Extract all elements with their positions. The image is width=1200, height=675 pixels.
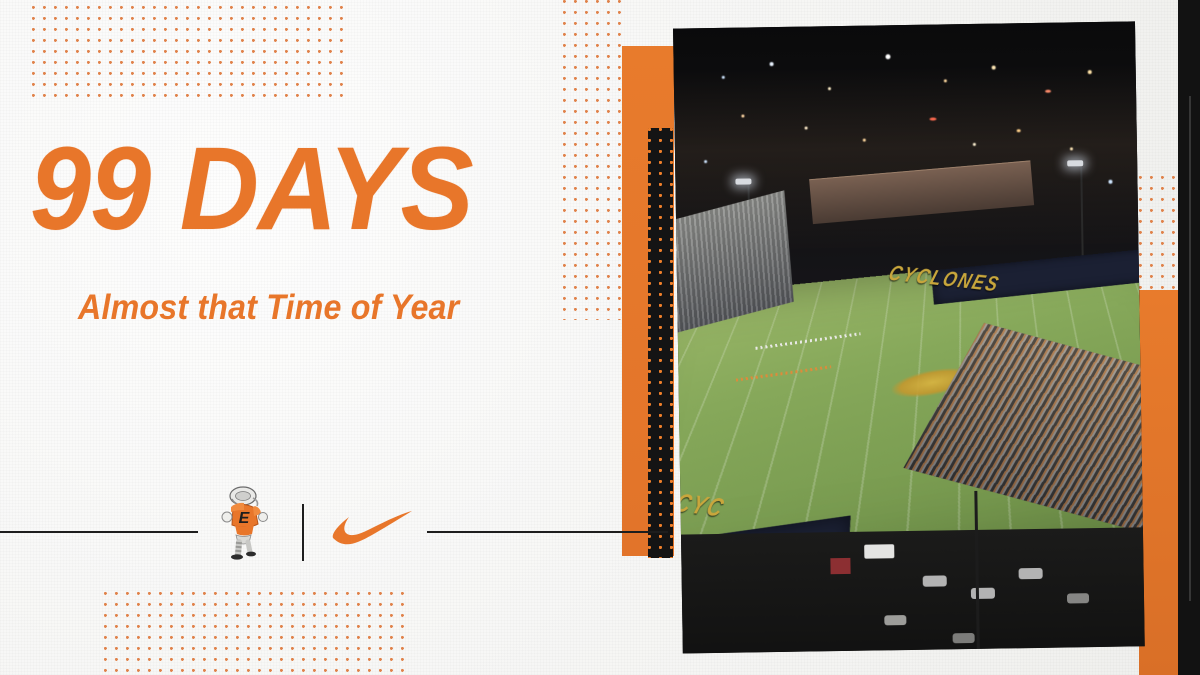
parking-lot [673,526,1145,653]
dot-grid-bottom-left [104,592,412,675]
dot-grid-right-column [1139,176,1181,292]
tent [830,558,850,574]
dot-grid-top-left [32,6,344,98]
ambulance [864,544,894,558]
logo-divider [302,504,304,561]
graphic-canvas: 99 DAYS Almost that Time of Year E [0,0,1200,675]
nike-swoosh-icon [330,508,414,548]
endzone-text-near: CYC [673,490,728,525]
subtitle: Almost that Time of Year [78,290,459,325]
black-edge-hairline [1189,96,1191,601]
page-title: 99 DAYS [30,130,473,248]
dot-grid-mid-column [563,0,623,320]
stadium-night-photo: CYCLONES CYC [673,21,1145,653]
rule-right [427,531,668,533]
orange-block-right [1139,290,1181,675]
dot-grid-dark-column [648,128,673,558]
svg-text:E: E [239,510,251,527]
football-player-mascot-icon: E [215,484,277,560]
rule-left [0,531,198,533]
